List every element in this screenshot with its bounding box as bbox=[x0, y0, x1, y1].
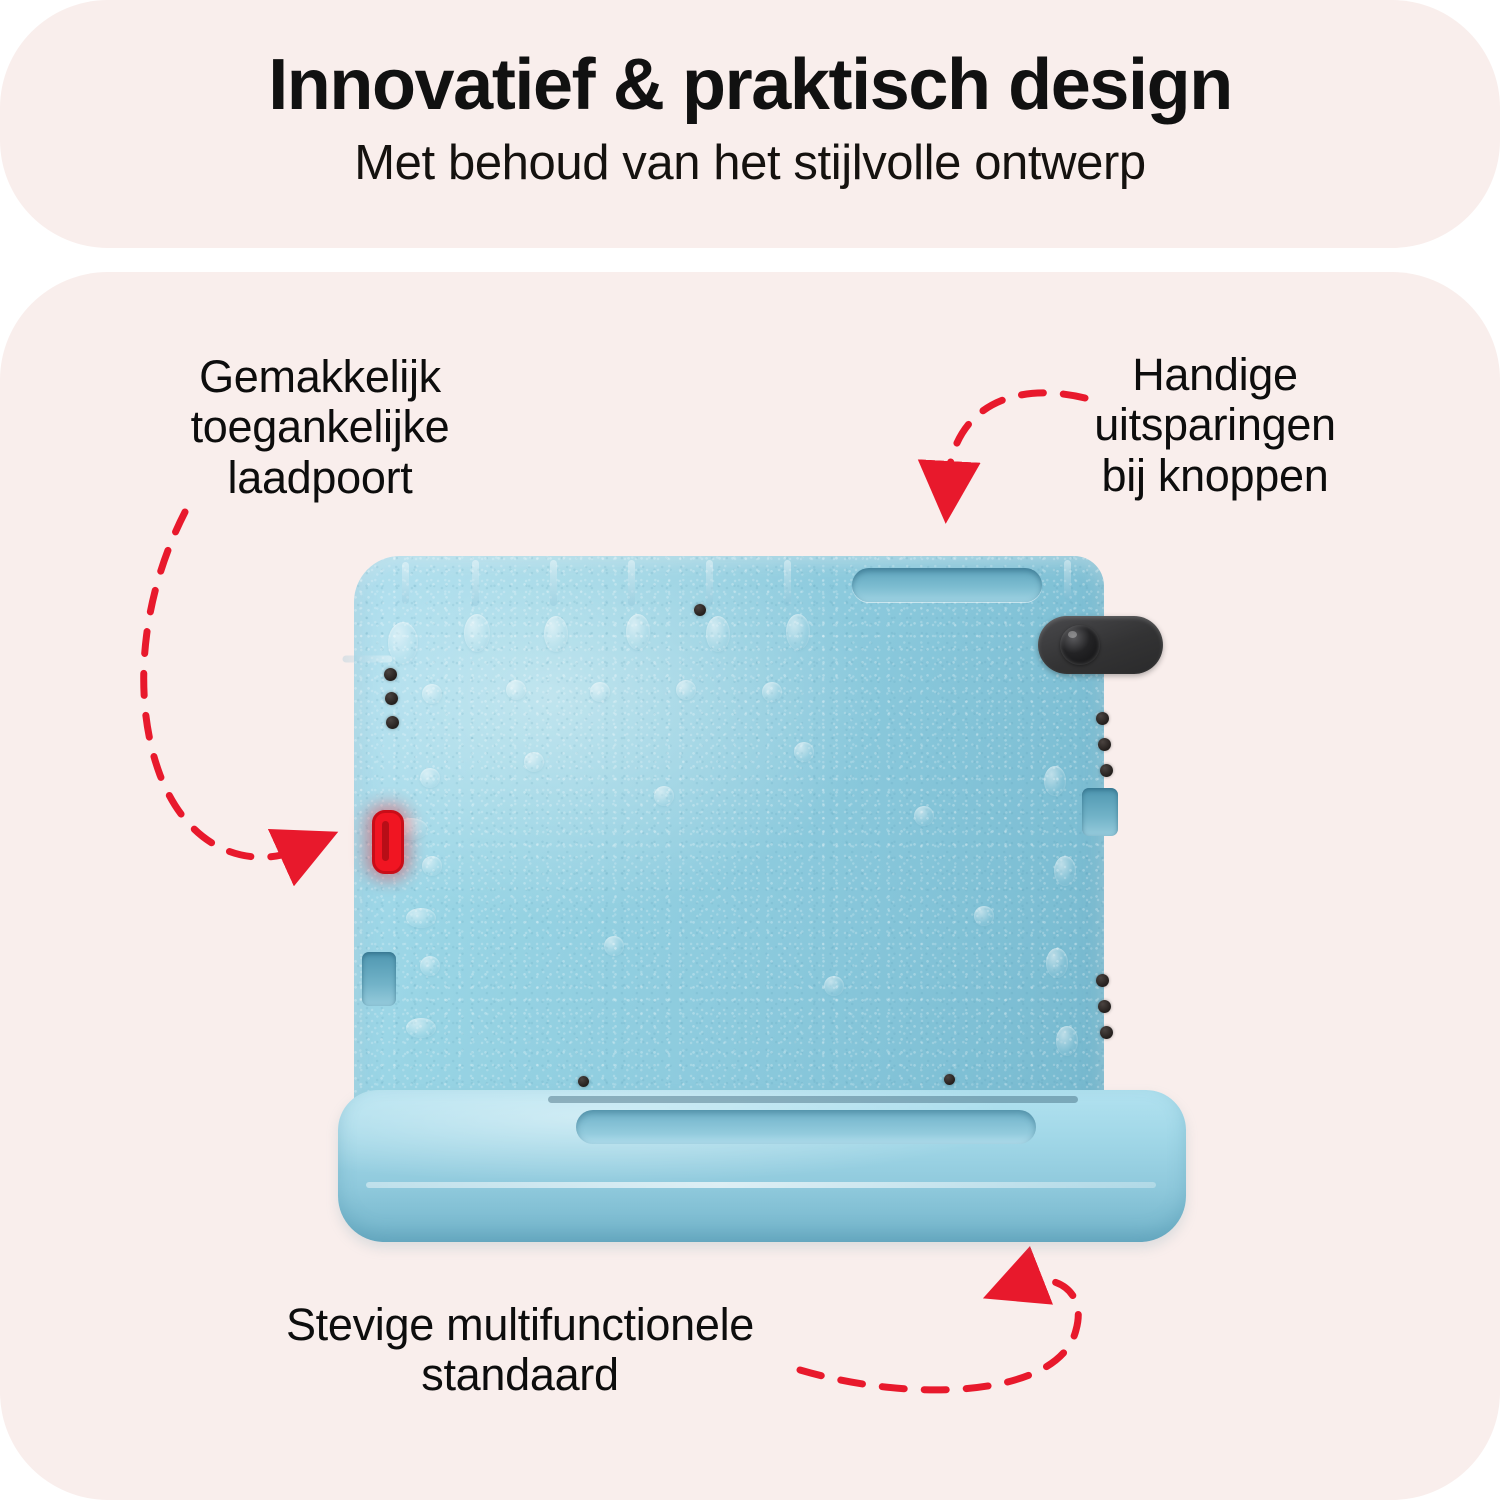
foam-dimple bbox=[1056, 1026, 1078, 1056]
foam-dimple bbox=[604, 936, 624, 956]
foam-dimple bbox=[590, 682, 610, 702]
arrow-stand bbox=[800, 1280, 1078, 1390]
multifunctional-stand bbox=[338, 1090, 1186, 1242]
edge-ridge bbox=[550, 560, 557, 606]
foam-dimple bbox=[544, 616, 568, 652]
sensor-dot bbox=[944, 1074, 955, 1085]
speaker-dot bbox=[386, 716, 399, 729]
foam-dimple bbox=[420, 956, 440, 976]
sensor-dot bbox=[694, 604, 706, 616]
foam-dimple bbox=[794, 742, 814, 762]
speaker-dot bbox=[1098, 1000, 1111, 1013]
speaker-dot bbox=[384, 668, 397, 681]
button-cutout bbox=[852, 568, 1042, 602]
foam-dimple bbox=[676, 680, 696, 700]
case-body bbox=[354, 556, 1104, 1146]
foam-dimple bbox=[1046, 948, 1068, 978]
speaker-dot bbox=[1096, 974, 1109, 987]
foam-dimple bbox=[422, 856, 442, 876]
edge-ridge bbox=[784, 560, 791, 606]
side-notch-left bbox=[362, 952, 396, 1006]
speaker-dot bbox=[1096, 712, 1109, 725]
foam-dimple bbox=[388, 622, 418, 664]
foam-dimple bbox=[706, 616, 730, 652]
product-image-tablet-case bbox=[336, 548, 1192, 1248]
speaker-dot bbox=[385, 692, 398, 705]
arrow-charging-port bbox=[144, 512, 300, 857]
foam-dimple bbox=[626, 614, 650, 650]
foam-dimple bbox=[1054, 856, 1076, 886]
foam-dimple bbox=[524, 752, 544, 772]
edge-ridge bbox=[706, 560, 713, 606]
foam-dimple bbox=[786, 614, 810, 650]
speaker-dot bbox=[1098, 738, 1111, 751]
foam-dimple bbox=[654, 786, 674, 806]
charging-port bbox=[372, 810, 404, 874]
edge-ridge bbox=[402, 562, 409, 604]
edge-ridge bbox=[472, 560, 479, 606]
foam-dimple bbox=[914, 806, 934, 826]
infographic-canvas: Innovatief & praktisch design Met behoud… bbox=[0, 0, 1500, 1500]
camera-lens bbox=[1060, 625, 1100, 665]
foam-dimple bbox=[762, 682, 782, 702]
foam-dimple bbox=[422, 684, 442, 704]
foam-dimple bbox=[406, 908, 436, 928]
arrow-button-cutouts bbox=[948, 393, 1085, 482]
stand-groove bbox=[576, 1110, 1036, 1144]
foam-dimple bbox=[824, 976, 844, 996]
foam-dimple bbox=[974, 906, 994, 926]
side-notch-right bbox=[1082, 788, 1118, 836]
speaker-dot bbox=[1100, 764, 1113, 777]
foam-dimple bbox=[420, 768, 440, 788]
foam-dimple bbox=[506, 680, 526, 700]
stand-seam bbox=[366, 1182, 1156, 1188]
speaker-dot bbox=[1100, 1026, 1113, 1039]
stand-shadow-line bbox=[548, 1096, 1078, 1103]
foam-dimple bbox=[406, 1018, 436, 1038]
camera-module bbox=[1038, 616, 1163, 674]
edge-ridge bbox=[628, 560, 635, 606]
foam-dimple bbox=[464, 614, 490, 652]
edge-ridge bbox=[343, 656, 393, 663]
sensor-dot bbox=[578, 1076, 589, 1087]
edge-ridge bbox=[1064, 560, 1071, 600]
foam-dimple bbox=[1044, 766, 1066, 796]
